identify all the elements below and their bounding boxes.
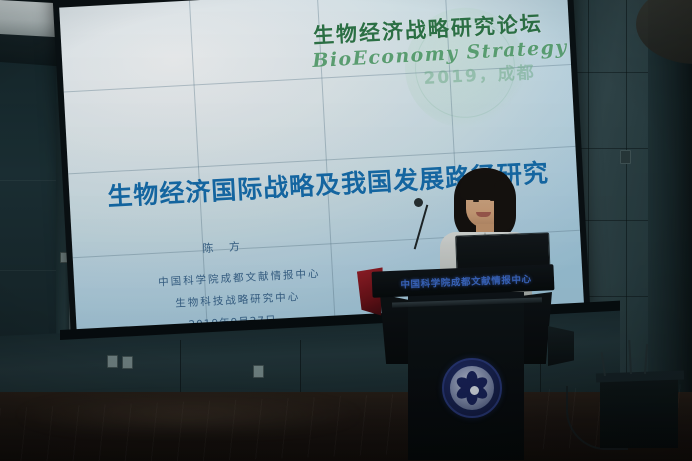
- hair-side: [494, 180, 514, 232]
- wall-outlet: [253, 365, 264, 378]
- right-corner-wall: [648, 0, 692, 430]
- floor-reflection: [20, 398, 440, 432]
- emblem-core: [468, 384, 481, 397]
- loudspeaker: [548, 326, 574, 366]
- slide-speaker-name: 陈 方: [202, 238, 246, 256]
- slide-affiliation-1: 中国科学院成都文献情报中心: [158, 266, 321, 290]
- conference-presentation-photo: 生物经济战略研究论坛 BioEconomy Strategy Forum 201…: [0, 0, 692, 461]
- wall-seam: [626, 0, 627, 420]
- emblem-disc: [450, 366, 494, 410]
- eye-left: [473, 200, 479, 202]
- wall-socket: [620, 150, 631, 164]
- wall-outlet: [122, 356, 133, 369]
- slide-affiliation-2: 生物科技战略研究中心: [175, 289, 301, 311]
- wall-outlet: [107, 355, 118, 368]
- av-equipment-case: [600, 378, 678, 448]
- microphone-icon: [414, 198, 423, 207]
- forum-location: 2019，成都: [423, 58, 537, 89]
- cas-emblem-icon: [442, 358, 502, 418]
